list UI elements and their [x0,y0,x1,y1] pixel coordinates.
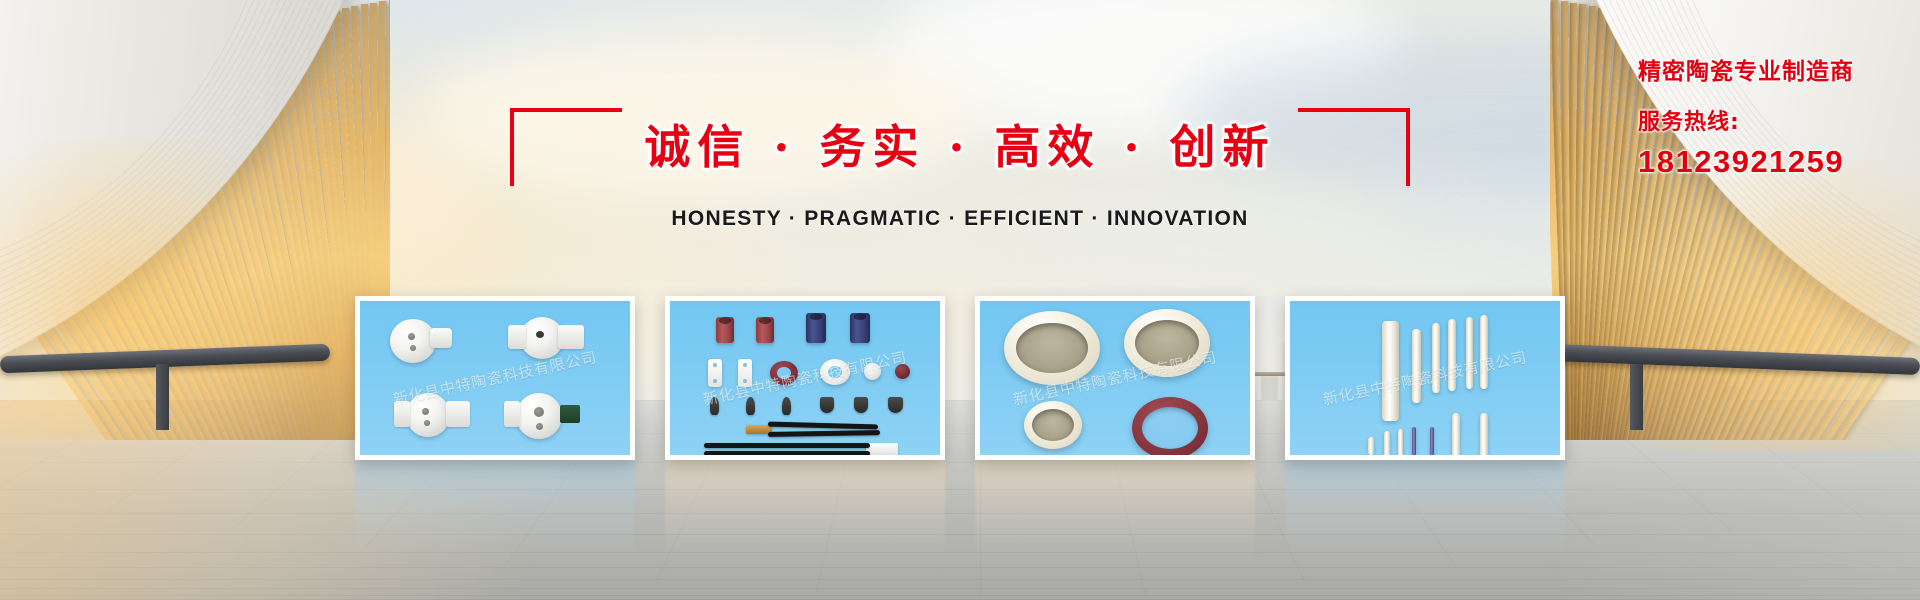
ceramic-part [430,328,452,348]
ceramic-part [746,397,755,415]
ceramic-part [394,401,410,427]
ceramic-part [756,317,774,343]
headline-chinese: 诚信 · 务实 · 高效 · 创新 [622,124,1297,170]
ceramic-rod [1448,319,1456,391]
cable [704,451,870,455]
product-photo-components: 新化县中特陶瓷科技有限公司 [670,301,940,455]
headline-english: HONESTY · PRAGMATIC · EFFICIENT · INNOVA… [0,207,1920,231]
headline-row: 诚信 · 务实 · 高效 · 创新 [510,108,1409,186]
product-photo-rods: 新化县中特陶瓷科技有限公司 [1290,301,1560,455]
hotline-number[interactable]: 18123921259 [1638,144,1854,180]
product-panel[interactable]: 新化县中特陶瓷科技有限公司 [1285,296,1565,460]
ceramic-part [820,397,834,413]
product-panel[interactable]: 新化县中特陶瓷科技有限公司 [975,296,1255,460]
ceramic-rod [1480,413,1488,455]
ceramic-ring [1024,401,1082,449]
ceramic-part [770,361,798,385]
ceramic-part [558,325,584,349]
ceramic-ring [1124,309,1210,377]
ceramic-rod [1384,431,1390,455]
connector-part [866,443,898,455]
ceramic-part [895,364,910,379]
ceramic-rod [1398,429,1403,455]
hero-banner: 诚信 · 务实 · 高效 · 创新 HONESTY · PRAGMATIC · … [0,0,1920,600]
ceramic-rod [1480,315,1488,389]
contact-block: 精密陶瓷专业制造商 服务热线: 18123921259 [1638,52,1854,180]
ceramic-part [716,317,734,343]
ceramic-rod [1432,323,1440,393]
bracket-right-icon [1298,108,1410,186]
ceramic-rod [1412,427,1416,455]
ceramic-part [738,359,752,387]
ceramic-part [406,393,450,437]
watermark-text: 新化县中特陶瓷科技有限公司 [1321,346,1529,410]
ceramic-rod [1368,437,1374,455]
ceramic-part [820,359,850,385]
ceramic-part [508,325,526,349]
ceramic-part [850,313,870,343]
ceramic-rod [1382,321,1399,421]
ceramic-rod [1412,329,1421,403]
ceramic-part [864,363,881,380]
ceramic-rod [1430,427,1434,455]
ceramic-part [446,401,470,427]
cable [704,443,870,448]
ceramic-part [516,393,562,439]
ceramic-part [888,397,903,413]
ceramic-ring [1004,311,1100,385]
ceramic-part [806,313,826,343]
ceramic-rod [1452,413,1460,455]
ceramic-part [854,397,868,413]
product-panel[interactable]: 新化县中特陶瓷科技有限公司 [355,296,635,460]
cable [768,430,880,437]
ceramic-part [782,397,791,415]
cable [768,422,878,430]
product-panel[interactable]: 新化县中特陶瓷科技有限公司 [665,296,945,460]
ceramic-part [504,401,520,427]
ceramic-rod [1466,317,1473,389]
headline-block: 诚信 · 务实 · 高效 · 创新 HONESTY · PRAGMATIC · … [0,108,1920,231]
product-photo-rings: 新化县中特陶瓷科技有限公司 [980,301,1250,455]
bracket-left-icon [510,108,622,186]
product-photo-lamp-holders: 新化县中特陶瓷科技有限公司 [360,301,630,455]
company-tagline: 精密陶瓷专业制造商 [1638,52,1854,86]
ceramic-ring [1132,397,1208,455]
ceramic-part [560,405,580,423]
hotline-label: 服务热线: [1638,104,1854,136]
ceramic-part [708,359,722,387]
ceramic-part [710,397,719,415]
product-panel-strip: 新化县中特陶瓷科技有限公司 [0,296,1920,460]
